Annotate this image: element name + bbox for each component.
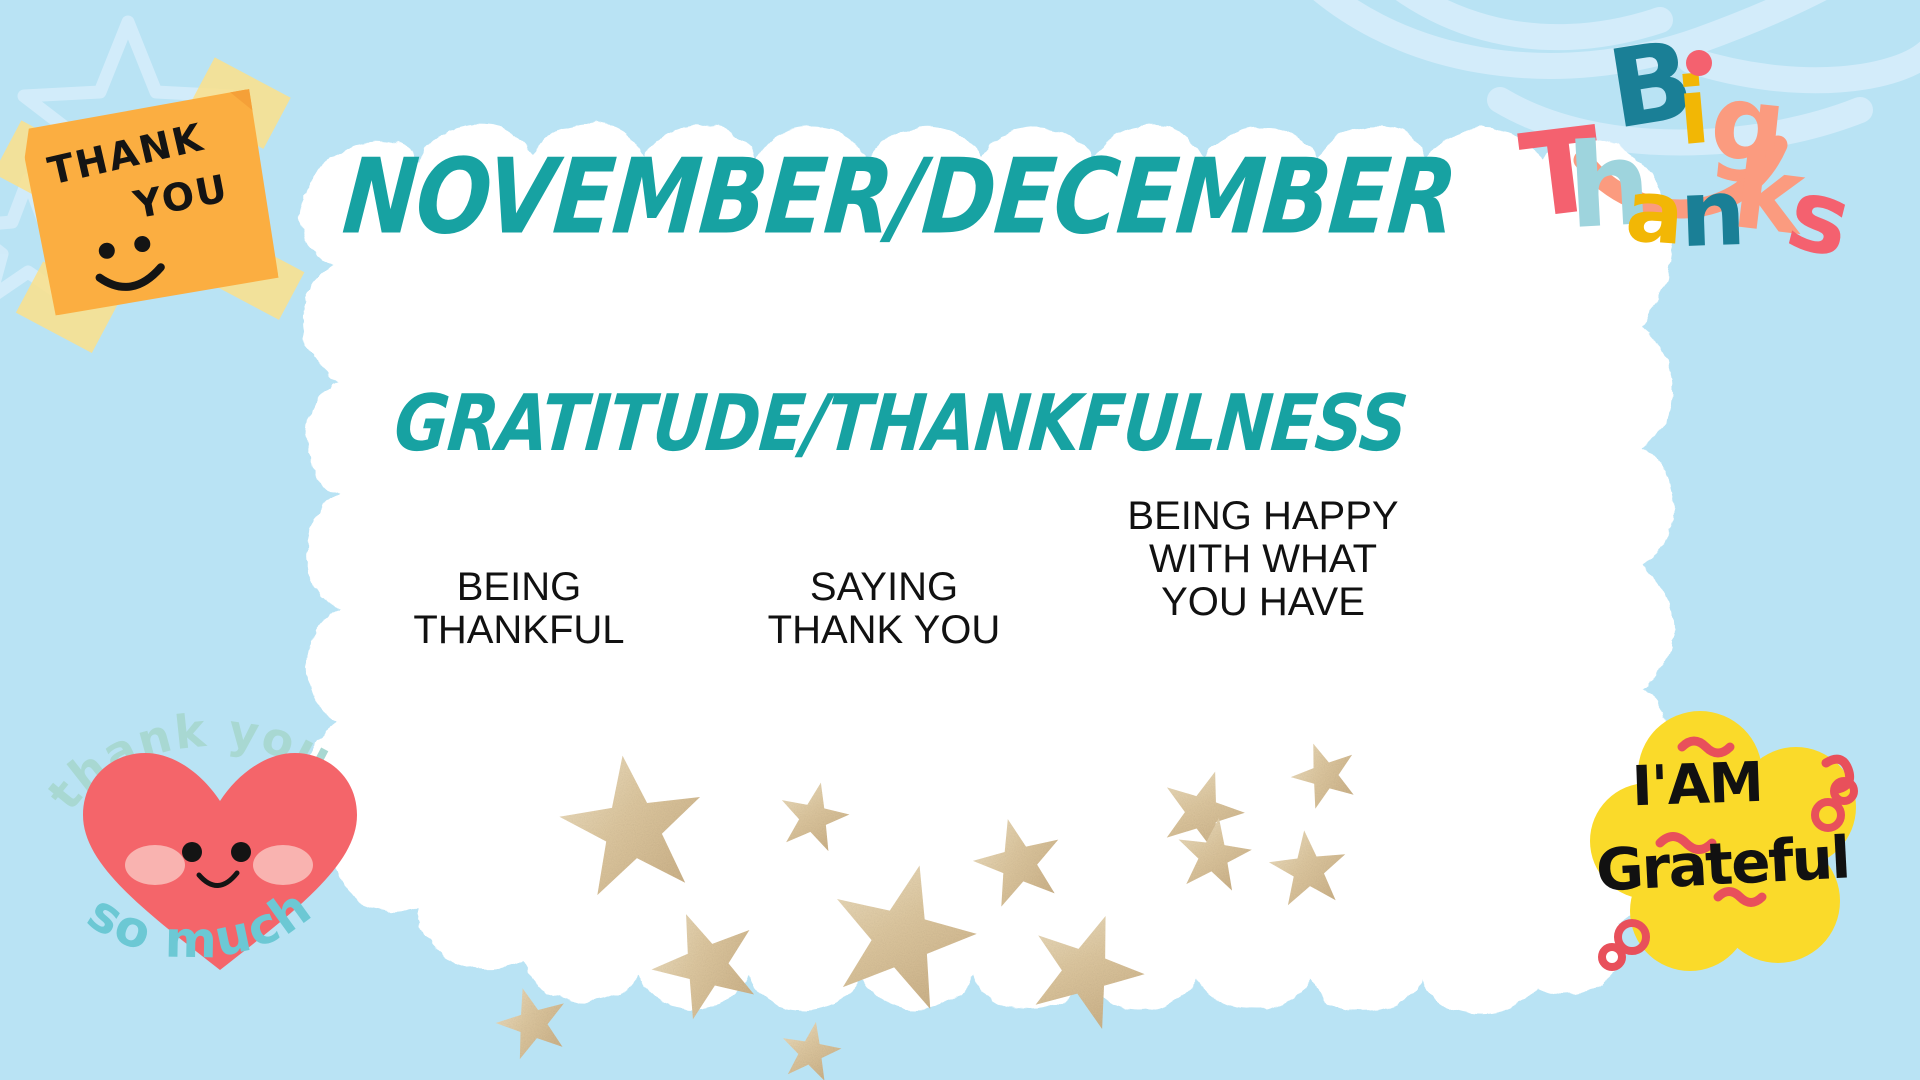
blurb-saying-thank-you: SAYING THANK YOU: [724, 566, 1044, 652]
blurb-being-thankful: BEING THANKFUL: [364, 566, 674, 652]
grateful-line-1: I'AM: [1631, 755, 1763, 815]
cheek-left: [125, 845, 185, 885]
heart-eye-right: [231, 842, 251, 862]
blurb-1-line-2: THANKFUL: [364, 609, 674, 652]
bt-letter-a: a: [1623, 168, 1687, 258]
blurb-being-happy: BEING HAPPY WITH WHAT YOU HAVE: [1088, 495, 1438, 653]
blurb-1-line-1: BEING: [364, 566, 674, 609]
letter-i-dot-icon: [1684, 48, 1714, 78]
i-am-grateful-sticker: I'AM Grateful: [1590, 715, 1890, 975]
blurb-row: BEING THANKFUL SAYING THANK YOU BEING HA…: [300, 495, 1680, 653]
heart-eye-left: [182, 842, 202, 862]
grateful-line-2: Grateful: [1595, 828, 1851, 899]
sticky-note-thank-you: THANK YOU: [20, 88, 280, 317]
heart-thank-you-sticker: thank you so much: [55, 715, 385, 995]
blurb-3-line-2: WITH WHAT: [1088, 538, 1438, 581]
ring-accent-4: [1602, 947, 1622, 967]
page-title: NOVEMBER/DECEMBER: [339, 136, 1461, 258]
smiley-face-icon: [20, 88, 280, 317]
cheek-right: [253, 845, 313, 885]
star-small-d: [777, 1017, 845, 1080]
blurb-3-line-1: BEING HAPPY: [1088, 495, 1438, 538]
big-thanks-sticker: B i g T h a n k s: [1528, 10, 1898, 300]
blurb-2-line-1: SAYING: [724, 566, 1044, 609]
page-subtitle: GRATITUDE/THANKFULNESS: [391, 378, 1410, 469]
slide-canvas: NOVEMBER/DECEMBER GRATITUDE/THANKFULNESS…: [0, 0, 1920, 1080]
blurb-2-line-2: THANK YOU: [724, 609, 1044, 652]
card-content: NOVEMBER/DECEMBER GRATITUDE/THANKFULNESS…: [300, 95, 1680, 1020]
blurb-3-line-3: YOU HAVE: [1088, 581, 1438, 624]
